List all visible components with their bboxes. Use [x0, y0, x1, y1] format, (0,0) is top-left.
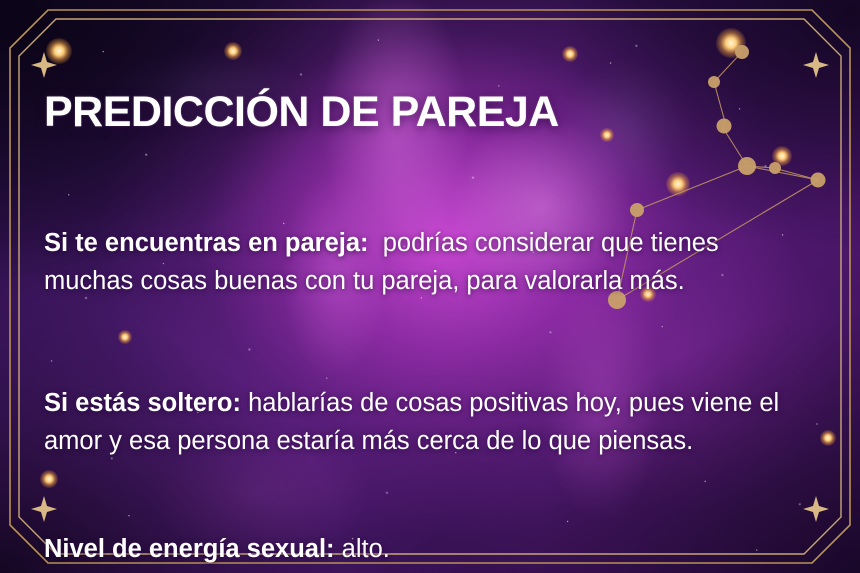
section-energia-body-space [335, 535, 342, 563]
card-content: PREDICCIÓN DE PAREJA Si te encuentras en… [44, 0, 804, 573]
section-energia-lead: Nivel de energía sexual: [44, 535, 335, 563]
horoscope-card: PREDICCIÓN DE PAREJA Si te encuentras en… [0, 0, 860, 573]
page-title: PREDICCIÓN DE PAREJA [44, 88, 559, 137]
section-pareja-body-space [369, 229, 383, 257]
section-pareja: Si te encuentras en pareja: podrías cons… [44, 224, 796, 300]
section-pareja-lead: Si te encuentras en pareja: [44, 229, 369, 257]
section-soltero: Si estás soltero: hablarías de cosas pos… [44, 384, 796, 460]
section-energia-body: alto. [342, 535, 390, 563]
section-energia: Nivel de energía sexual: alto. [44, 530, 796, 568]
section-soltero-lead: Si estás soltero: [44, 389, 241, 417]
